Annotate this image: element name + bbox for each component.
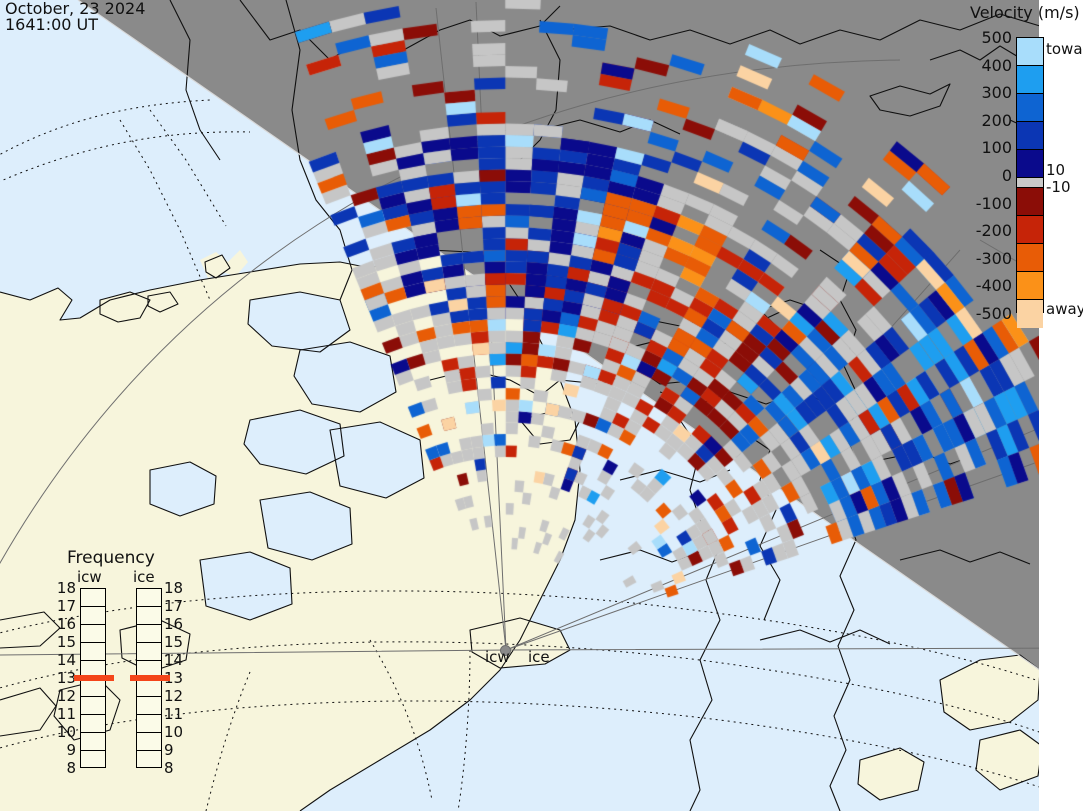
frequency-segment (81, 715, 105, 733)
frequency-tick-left-10: 10 (52, 723, 76, 741)
colorbar-band-350 (1017, 66, 1043, 94)
frequency-segment (137, 733, 161, 751)
colorbar-band--250 (1017, 244, 1043, 272)
frequency-tick-right-11: 11 (164, 705, 188, 723)
colorbar-negative-threshold-label: -10 (1046, 178, 1071, 196)
time-label: 1641:00 UT (5, 17, 98, 33)
colorbar-tick-500: 500 (966, 28, 1012, 47)
colorbar-title: Velocity (m/s) (970, 3, 1080, 22)
colorbar-toward-label: toward (1046, 40, 1083, 58)
colorbar-band-150 (1017, 122, 1043, 150)
frequency-column-label-icw: icw (77, 568, 102, 586)
frequency-segment (81, 697, 105, 715)
frequency-segment (81, 625, 105, 643)
frequency-legend: Frequency icw ice 18171615141312111098 1… (55, 548, 185, 783)
colorbar-band-450 (1017, 38, 1043, 66)
frequency-tick-left-9: 9 (52, 741, 76, 759)
colorbar-band-0 (1017, 178, 1043, 188)
colorbar-away-label: away (1046, 300, 1083, 318)
frequency-segment (81, 751, 105, 769)
colorbar-tick--300: -300 (966, 249, 1012, 268)
frequency-tick-right-16: 16 (164, 615, 188, 633)
frequency-legend-title: Frequency (67, 548, 155, 568)
frequency-tick-right-18: 18 (164, 579, 188, 597)
colorbar-tick--100: -100 (966, 194, 1012, 213)
colorbar-tick-300: 300 (966, 83, 1012, 102)
frequency-tick-right-12: 12 (164, 687, 188, 705)
frequency-tick-right-9: 9 (164, 741, 188, 759)
frequency-tick-left-11: 11 (52, 705, 76, 723)
frequency-segment (137, 715, 161, 733)
frequency-tick-left-14: 14 (52, 651, 76, 669)
frequency-tick-left-8: 8 (52, 759, 76, 777)
frequency-segment (137, 679, 161, 697)
frequency-tick-right-15: 15 (164, 633, 188, 651)
site-label-icw: icw (485, 648, 510, 666)
screenshot-root: October, 23 2024 1641:00 UT Velocity (m/… (0, 0, 1083, 811)
frequency-segment (137, 607, 161, 625)
frequency-segment (137, 625, 161, 643)
frequency-tick-right-10: 10 (164, 723, 188, 741)
colorbar-band--350 (1017, 272, 1043, 300)
colorbar-band--55 (1017, 188, 1043, 216)
frequency-segment (81, 733, 105, 751)
frequency-tick-right-17: 17 (164, 597, 188, 615)
frequency-tick-left-18: 18 (52, 579, 76, 597)
frequency-column-label-ice: ice (133, 568, 155, 586)
frequency-tick-left-13: 13 (52, 669, 76, 687)
frequency-segment (81, 589, 105, 607)
colorbar-positive-threshold-label: 10 (1046, 161, 1065, 179)
frequency-segment (81, 607, 105, 625)
colorbar-band-250 (1017, 94, 1043, 122)
colorbar-tick-100: 100 (966, 138, 1012, 157)
right-white-panel (1039, 0, 1083, 811)
colorbar-tick--200: -200 (966, 221, 1012, 240)
frequency-tick-right-14: 14 (164, 651, 188, 669)
velocity-colorbar (1016, 37, 1044, 313)
frequency-segment (137, 697, 161, 715)
frequency-segment (81, 679, 105, 697)
colorbar-tick-400: 400 (966, 56, 1012, 75)
frequency-tick-right-8: 8 (164, 759, 188, 777)
frequency-tick-left-12: 12 (52, 687, 76, 705)
colorbar-tick-0: 0 (966, 166, 1012, 185)
frequency-segment (137, 643, 161, 661)
frequency-tick-left-17: 17 (52, 597, 76, 615)
colorbar-band--150 (1017, 216, 1043, 244)
site-label-ice: ice (528, 648, 550, 666)
frequency-tick-left-15: 15 (52, 633, 76, 651)
colorbar-band--450 (1017, 300, 1043, 328)
colorbar-tick-200: 200 (966, 111, 1012, 130)
frequency-segment (81, 643, 105, 661)
frequency-marker-ice (130, 675, 170, 681)
frequency-segment (137, 589, 161, 607)
frequency-segment (137, 751, 161, 769)
colorbar-tick--500: -500 (966, 304, 1012, 323)
colorbar-tick--400: -400 (966, 276, 1012, 295)
frequency-tick-left-16: 16 (52, 615, 76, 633)
frequency-marker-icw (74, 675, 114, 681)
colorbar-band-55 (1017, 150, 1043, 178)
